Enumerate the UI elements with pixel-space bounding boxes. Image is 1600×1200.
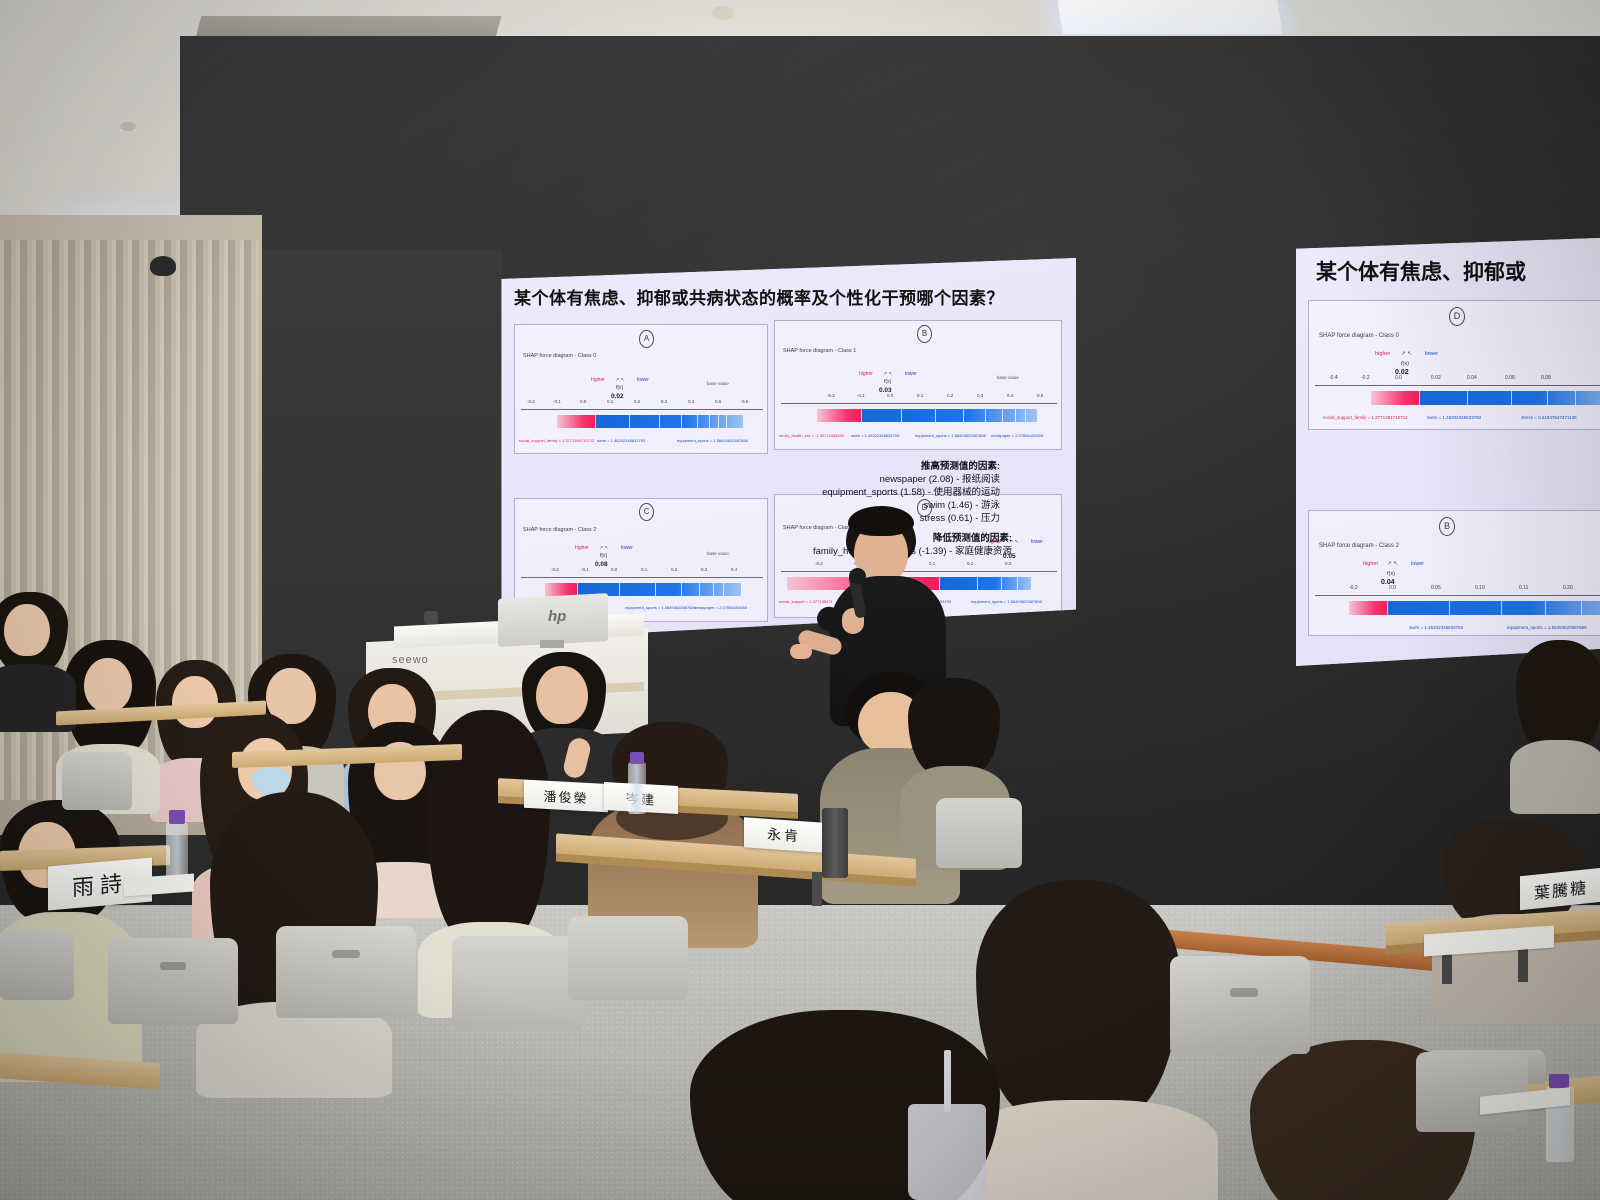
force-divider	[1002, 409, 1003, 422]
panel-b-tick: 0.5	[1037, 393, 1043, 398]
chair[interactable]	[108, 938, 238, 1024]
force-segment-red	[1349, 601, 1387, 615]
force-divider	[697, 415, 698, 428]
force-divider	[681, 415, 682, 428]
panel-b-out-label: base value	[997, 375, 1019, 380]
panel-c-tick: 0.0	[611, 567, 617, 572]
panel-b-tick: 0.4	[1007, 393, 1013, 398]
force-divider	[935, 409, 936, 422]
panel-b-feature-label: family_health_res = -1.39174436402	[779, 433, 844, 438]
chair-handle-slot	[1230, 988, 1258, 997]
panel-c-feature-label: newspaper = 2.07856492655	[695, 605, 747, 610]
panel-c-tick: 0.4	[731, 567, 737, 572]
panel-a-force-bar	[557, 415, 743, 428]
side-panel-1-fx-label: f(x)	[1401, 361, 1409, 367]
panel-c-caption: SHAP force diagram - Class 2	[523, 527, 596, 533]
force-divider	[1547, 391, 1548, 405]
water-bottle	[822, 808, 848, 878]
panel-a-out-label: base value	[707, 381, 729, 386]
panel-b-tick: -0.1	[857, 393, 865, 398]
panel-c-base-value: 0.08	[595, 561, 608, 568]
panel-a-tick: 0.4	[688, 399, 694, 404]
force-divider	[1545, 601, 1546, 615]
force-divider	[619, 583, 620, 596]
lectern-brand-label: seewo	[392, 654, 429, 666]
annotation-raise-header: 推高预测值的因素:	[921, 458, 1000, 472]
monitor-stand	[540, 640, 564, 648]
water-bottle	[628, 762, 646, 814]
side-screen-surface: 某个体有焦虑、抑郁或 D SHAP force diagram - Class …	[1296, 238, 1600, 666]
panel-b-tick: 0.3	[977, 393, 983, 398]
side-panel-2-caption: SHAP force diagram - Class 2	[1319, 543, 1399, 549]
force-divider	[1581, 601, 1582, 615]
force-segment-blue	[1419, 391, 1600, 405]
force-divider	[723, 583, 724, 596]
panel-a-tick: -0.2	[527, 399, 535, 404]
presenter-hair-top	[848, 506, 914, 536]
panel-a-tick: -0.1	[553, 399, 561, 404]
panel-c-arrow: ↗ ↖	[599, 545, 609, 551]
chair[interactable]	[276, 926, 416, 1018]
force-divider	[726, 415, 727, 428]
audience-member-hooded	[588, 722, 758, 942]
chair-handle-slot	[332, 950, 360, 958]
force-divider	[1501, 601, 1502, 615]
hair	[908, 678, 1000, 774]
chair[interactable]	[568, 916, 688, 1000]
ptz-camera	[150, 256, 176, 276]
side-projection-screen: 某个体有焦虑、抑郁或 D SHAP force diagram - Class …	[1296, 238, 1600, 666]
force-divider	[963, 409, 964, 422]
side-panel-2-higher-label: higher	[1363, 561, 1378, 567]
presenter-hand-left	[790, 644, 812, 659]
panel-b-caption: SHAP force diagram - Class 1	[783, 348, 856, 354]
nameplate: 永肯	[744, 817, 824, 853]
side-panel-1-lower-label: lower	[1425, 351, 1438, 357]
side-panel-2-tick: 0.05	[1431, 585, 1441, 591]
panel-c-fx-label: f(x)	[600, 553, 607, 559]
sprinkler-head	[712, 6, 734, 20]
chair[interactable]	[1418, 1052, 1528, 1128]
panel-c-tick: 0.1	[641, 567, 647, 572]
side-panel-1-tick: 0.08	[1541, 375, 1551, 381]
chair[interactable]	[936, 798, 1022, 868]
side-panel-1-tick: 0.0	[1395, 375, 1402, 381]
side-panel-2-axis	[1315, 595, 1600, 596]
panel-a-feature-label: social_support_family = 1.3771384715712	[519, 438, 594, 443]
side-panel-1-tick: -0.4	[1329, 375, 1338, 381]
force-divider	[985, 409, 986, 422]
force-segment-red	[1371, 391, 1419, 405]
bottle-cap	[630, 752, 644, 764]
panel-c-tick: 0.2	[671, 567, 677, 572]
chair[interactable]	[0, 930, 74, 1000]
chair[interactable]	[452, 936, 584, 1028]
lecture-hall-screenshot: 某个体有焦虑、抑郁或共病状态的概率及个性化干预哪个因素？ A SHAP forc…	[0, 0, 1600, 1200]
panel-c-tick: -0.1	[581, 567, 589, 572]
panel-c-lower-label: lower	[621, 545, 633, 551]
side-panel-2-tick: 0.11	[1519, 585, 1528, 591]
panel-b-feature-label: newspaper = 2.07856492655	[991, 433, 1043, 438]
force-divider	[1419, 391, 1420, 405]
force-divider	[1511, 391, 1512, 405]
panel-b-lower-label: lower	[905, 371, 917, 377]
panel-a-feature-label: equipment_sports = 1.58493620587656	[677, 438, 748, 443]
panel-a-badge: A	[639, 330, 654, 348]
head	[4, 604, 50, 656]
force-divider	[659, 415, 660, 428]
side-panel-2-fx-label: f(x)	[1387, 571, 1395, 577]
panel-a-tick: 0.0	[580, 399, 586, 404]
shap-panel-a: A SHAP force diagram - Class 0 higher ↗ …	[514, 324, 768, 454]
smoke-detector-1	[120, 122, 136, 131]
chair-handle-slot	[160, 962, 186, 970]
panel-a-fx-label: f(x)	[616, 385, 623, 391]
panel-a-feature-label: swim = 1.46202345633793	[597, 438, 645, 443]
side-panel-2-feature-label: swim = 1.46202345633793	[1409, 625, 1463, 630]
force-segment-blue	[595, 415, 743, 428]
panel-b-tick: -0.2	[827, 393, 835, 398]
hp-logo: hp	[548, 608, 566, 625]
tumbler-straw	[944, 1050, 951, 1112]
force-divider	[1017, 577, 1018, 590]
side-panel-2-lower-label: lower	[1411, 561, 1424, 567]
panel-a-arrow: ↗ ↖	[615, 377, 625, 383]
panel-a-tick: 0.5	[715, 399, 721, 404]
side-panel-2-arrow: ↗ ↖	[1387, 561, 1398, 567]
panel-b-axis	[781, 403, 1057, 404]
panel-c-badge: C	[639, 503, 654, 521]
chair[interactable]	[1170, 956, 1310, 1054]
bottle-cap	[169, 810, 185, 824]
side-panel-1-axis	[1315, 385, 1600, 386]
force-divider	[699, 583, 700, 596]
force-divider	[1387, 601, 1388, 615]
panel-d-lower-label: lower	[1031, 539, 1043, 545]
hair	[1516, 640, 1600, 750]
force-segment-blue	[861, 409, 1037, 422]
panel-a-tick: 0.1	[607, 399, 613, 404]
side-panel-1-arrow: ↗ ↖	[1401, 351, 1412, 357]
panel-b-higher-label: higher	[859, 371, 873, 377]
force-divider	[861, 409, 862, 422]
side-panel-2-tick: -0.2	[1349, 585, 1358, 591]
side-panel-1-tick: 0.06	[1505, 375, 1515, 381]
panel-b-feature-label: equipment_sports = 1.58493620587656	[915, 433, 986, 438]
side-panel-1-feature-label: social_support_family = 1.3771384715712	[1323, 415, 1408, 420]
side-panel-2-feature-label: equipment_sports = 1.58493620587656	[1507, 625, 1587, 630]
panel-a-tick: 0.6	[742, 399, 748, 404]
side-shap-panel-2: B SHAP force diagram - Class 2 higher ↗ …	[1308, 510, 1600, 636]
panel-b-tick: 0.0	[887, 393, 893, 398]
side-panel-2-tick: 0.20	[1563, 585, 1573, 591]
panel-c-tick: -0.2	[551, 567, 559, 572]
side-panel-2-tick: 0.10	[1475, 585, 1485, 591]
force-divider	[1575, 391, 1576, 405]
panel-b-badge: B	[917, 325, 932, 343]
force-segment-red	[557, 415, 595, 428]
panel-a-lower-label: lower	[637, 377, 649, 383]
bottle-cap	[1549, 1074, 1569, 1088]
side-panel-2-badge: B	[1439, 517, 1455, 536]
panel-b-tick: 0.2	[947, 393, 953, 398]
annotation-raise-item: equipment_sports (1.58) - 使用器械的运动	[822, 484, 1000, 498]
force-divider	[629, 415, 630, 428]
panel-b-fx-label: f(x)	[884, 379, 891, 385]
panel-b-tick: 0.1	[917, 393, 923, 398]
side-panel-1-feature-label: swim = 1.46202345633793	[1427, 415, 1481, 420]
panel-c-out-label: base value	[707, 551, 729, 556]
table-leg	[812, 872, 822, 906]
force-divider	[718, 415, 719, 428]
table-leg	[1518, 946, 1528, 982]
force-segment-blue	[1387, 601, 1600, 615]
force-divider	[713, 583, 714, 596]
chair[interactable]	[62, 752, 132, 810]
desk-mug	[424, 611, 438, 624]
force-divider	[655, 583, 656, 596]
side-panel-1-higher-label: higher	[1375, 351, 1390, 357]
panel-a-tick: 0.2	[634, 399, 640, 404]
side-panel-1-feature-label: stress = 0.61947647471136	[1521, 415, 1577, 420]
side-panel-1-badge: D	[1449, 307, 1465, 326]
force-segment-red	[817, 409, 861, 422]
microphone-head	[849, 568, 866, 584]
main-slide-title: 某个体有焦虑、抑郁或共病状态的概率及个性化干预哪个因素？	[514, 284, 1004, 309]
nameplate: 潘俊榮	[524, 780, 608, 812]
force-divider	[1467, 391, 1468, 405]
force-divider	[1025, 409, 1026, 422]
panel-a-tick: 0.3	[661, 399, 667, 404]
audience-member	[1510, 640, 1600, 810]
force-divider	[1449, 601, 1450, 615]
panel-a-higher-label: higher	[591, 377, 605, 383]
panel-a-caption: SHAP force diagram - Class 0	[523, 353, 596, 359]
force-divider	[901, 409, 902, 422]
force-divider	[681, 583, 682, 596]
torso	[1510, 740, 1600, 814]
panel-b-arrow: ↗ ↖	[883, 371, 893, 377]
head	[84, 658, 132, 712]
side-panel-1-tick: -0.2	[1361, 375, 1370, 381]
panel-c-axis	[521, 577, 763, 578]
panel-b-force-bar	[817, 409, 1037, 422]
panel-c-tick: 0.3	[701, 567, 707, 572]
panel-c-higher-label: higher	[575, 545, 589, 551]
force-divider	[709, 415, 710, 428]
annotation-raise-item: newspaper (2.08) - 报纸阅读	[880, 471, 1000, 485]
side-panel-1-tick: 0.02	[1431, 375, 1441, 381]
drink-tumbler	[908, 1104, 986, 1200]
side-panel-2-force-bar	[1349, 601, 1600, 615]
panel-b-feature-label: swim = 1.46202345633793	[851, 433, 899, 438]
panel-c-feature-label: equipment_sports = 1.58493620587656	[625, 605, 696, 610]
side-panel-1-force-bar	[1371, 391, 1600, 405]
force-divider	[595, 415, 596, 428]
panel-a-axis	[521, 409, 763, 410]
force-divider	[1015, 409, 1016, 422]
side-panel-1-caption: SHAP force diagram - Class 0	[1319, 333, 1399, 339]
side-slide-title: 某个体有焦虑、抑郁或	[1316, 256, 1526, 286]
side-panel-1-tick: 0.04	[1467, 375, 1477, 381]
side-shap-panel-1: D SHAP force diagram - Class 0 higher ↗ …	[1308, 300, 1600, 430]
shap-panel-b: B SHAP force diagram - Class 1 higher ↗ …	[774, 320, 1062, 450]
side-panel-2-tick: 0.0	[1389, 585, 1396, 591]
